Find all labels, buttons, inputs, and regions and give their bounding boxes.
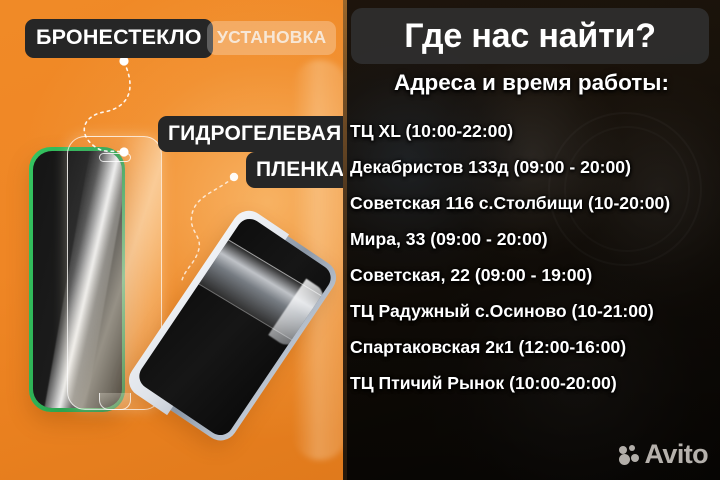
- badge-bronesteklo: БРОНЕСТЕКЛО: [25, 19, 213, 58]
- badge-gidrogelevaya: ГИДРОГЕЛЕВАЯ: [158, 116, 343, 152]
- glass-speaker-cutout: [99, 153, 131, 162]
- right-info-panel: Где нас найти? Адреса и время работы: ТЦ…: [343, 0, 720, 480]
- address-row: ТЦ XL (10:00-22:00): [350, 113, 720, 149]
- avito-wordmark: Avito: [645, 441, 709, 468]
- left-product-panel: БРОНЕСТЕКЛО УСТАНОВКА ГИДРОГЕЛЕВАЯ ПЛЕНК…: [0, 0, 343, 480]
- connector-dot-second: [230, 173, 238, 181]
- badge-ustanovka: УСТАНОВКА: [207, 21, 336, 55]
- address-row: Декабристов 133д (09:00 - 20:00): [350, 149, 720, 185]
- address-row: ТЦ Птичий Рынок (10:00-20:00): [350, 365, 720, 401]
- section-subtitle: Адреса и время работы:: [343, 70, 720, 96]
- address-list: ТЦ XL (10:00-22:00) Декабристов 133д (09…: [350, 113, 720, 401]
- avito-logo-icon: [619, 445, 641, 465]
- address-row: Спартаковская 2к1 (12:00-16:00): [350, 329, 720, 365]
- connector-dot-top: [119, 56, 128, 65]
- address-row: Советская 116 с.Столбищи (10-20:00): [350, 185, 720, 221]
- address-row: ТЦ Радужный с.Осиново (10-21:00): [350, 293, 720, 329]
- poster-canvas: БРОНЕСТЕКЛО УСТАНОВКА ГИДРОГЕЛЕВАЯ ПЛЕНК…: [0, 0, 720, 480]
- badge-plenka: ПЛЕНКА: [246, 152, 343, 188]
- address-row: Мира, 33 (09:00 - 20:00): [350, 221, 720, 257]
- address-row: Советская, 22 (09:00 - 19:00): [350, 257, 720, 293]
- glass-bottom-notch: [99, 393, 131, 410]
- avito-watermark: Avito: [619, 441, 709, 468]
- page-title: Где нас найти?: [351, 8, 709, 64]
